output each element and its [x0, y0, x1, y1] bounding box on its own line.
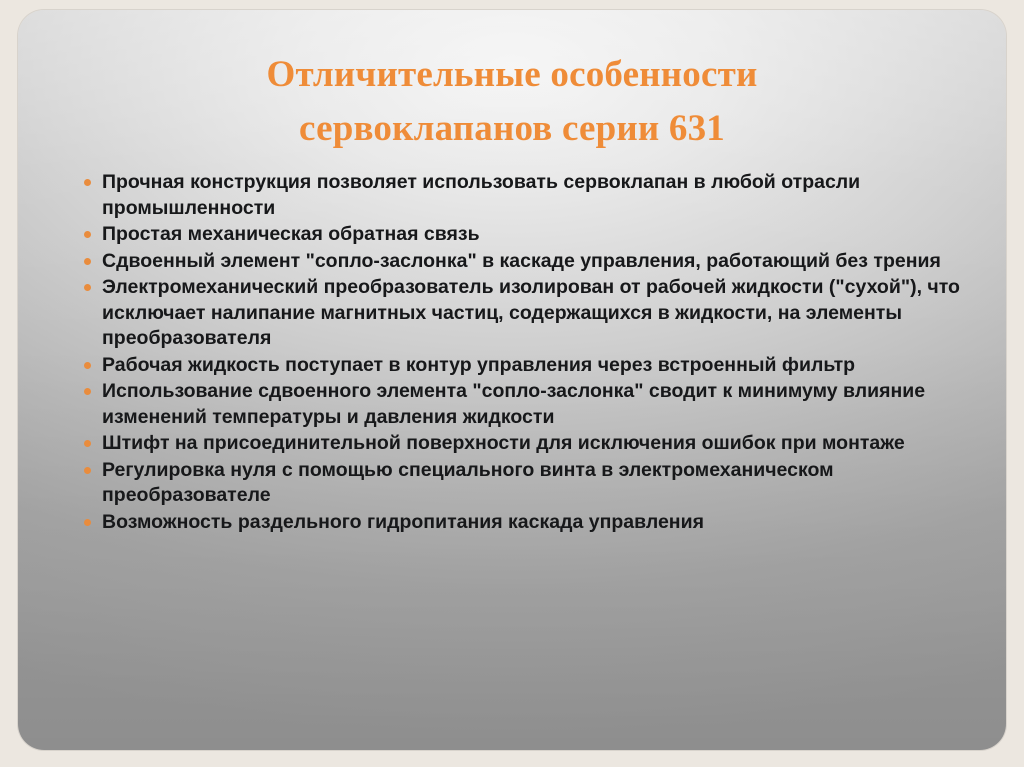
list-item: Рабочая жидкость поступает в контур упра… — [62, 353, 962, 379]
slide-canvas: Отличительные особенности сервоклапанов … — [18, 10, 1006, 750]
list-item: Электромеханический преобразователь изол… — [62, 275, 962, 352]
list-item: Простая механическая обратная связь — [62, 222, 962, 248]
list-item-text: Простая механическая обратная связь — [102, 223, 480, 245]
bullet-dot-icon — [84, 231, 91, 238]
list-item-text: Рабочая жидкость поступает в контур упра… — [102, 354, 855, 376]
bullet-dot-icon — [84, 258, 91, 265]
bullet-list: Прочная конструкция позволяет использова… — [62, 170, 962, 535]
list-item: Регулировка нуля с помощью специального … — [62, 458, 962, 509]
list-item: Штифт на присоединительной поверхности д… — [62, 431, 962, 457]
list-item: Сдвоенный элемент "сопло-заслонка" в кас… — [62, 249, 962, 275]
list-item: Использование сдвоенного элемента "сопло… — [62, 379, 962, 430]
list-item-text: Электромеханический преобразователь изол… — [102, 276, 960, 349]
bullet-dot-icon — [84, 362, 91, 369]
list-item-text: Регулировка нуля с помощью специального … — [102, 459, 834, 507]
list-item: Прочная конструкция позволяет использова… — [62, 170, 962, 221]
list-item-text: Сдвоенный элемент "сопло-заслонка" в кас… — [102, 250, 941, 272]
list-item-text: Прочная конструкция позволяет использова… — [102, 171, 860, 219]
slide-body: Прочная конструкция позволяет использова… — [62, 170, 962, 544]
title-line-2: сервоклапанов серии 631 — [78, 102, 946, 156]
list-item-text: Возможность раздельного гидропитания кас… — [102, 511, 704, 533]
bottom-spacer — [62, 536, 962, 544]
bullet-dot-icon — [84, 284, 91, 291]
title-line-1: Отличительные особенности — [78, 48, 946, 102]
bullet-dot-icon — [84, 519, 91, 526]
bullet-dot-icon — [84, 440, 91, 447]
bullet-dot-icon — [84, 388, 91, 395]
list-item: Возможность раздельного гидропитания кас… — [62, 510, 962, 536]
list-item-text: Штифт на присоединительной поверхности д… — [102, 432, 905, 454]
bullet-dot-icon — [84, 179, 91, 186]
list-item-text: Использование сдвоенного элемента "сопло… — [102, 380, 925, 428]
bullet-dot-icon — [84, 467, 91, 474]
slide-title: Отличительные особенности сервоклапанов … — [78, 48, 946, 156]
